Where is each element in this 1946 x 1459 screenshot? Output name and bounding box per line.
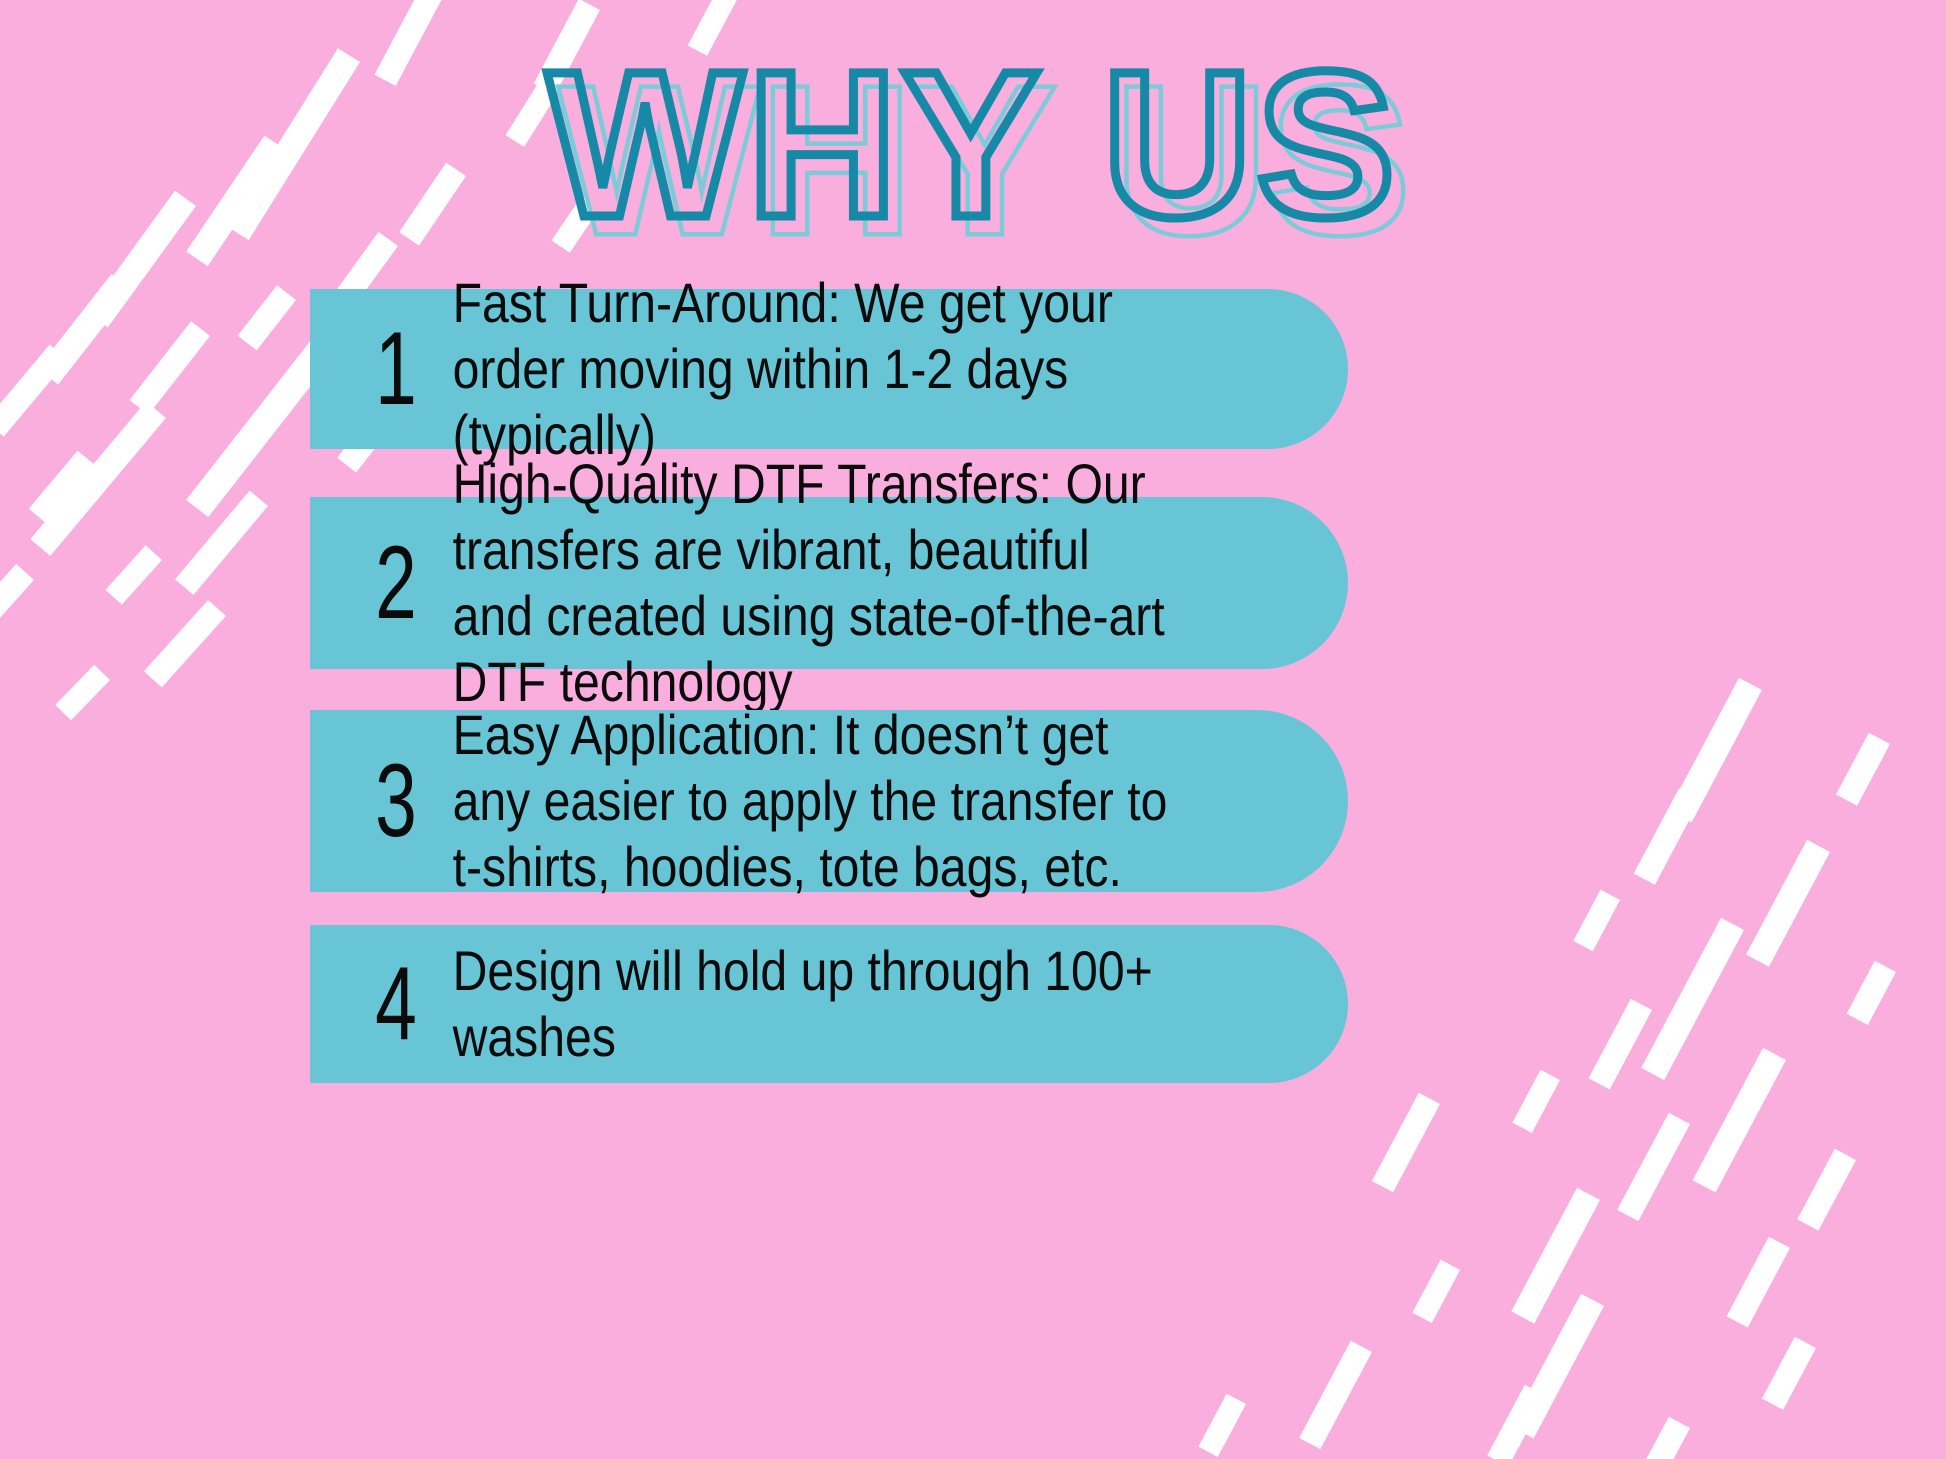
decorative-dash: [106, 545, 162, 604]
poster-canvas: WHY US WHY US WHY US 1 Fast Turn-Around:…: [0, 0, 1946, 1459]
benefit-number: 3: [361, 751, 430, 851]
decorative-dash: [1727, 1237, 1790, 1328]
decorative-dash: [1746, 840, 1830, 967]
benefit-number: 4: [361, 954, 430, 1054]
decorative-dash: [0, 345, 68, 437]
decorative-dash: [1693, 1048, 1786, 1193]
decorative-dash: [1198, 1394, 1246, 1457]
decorative-dash: [1762, 1337, 1816, 1410]
benefit-text: Design will hold up through 100+ washes: [444, 938, 1221, 1070]
decorative-dash: [1512, 1070, 1560, 1133]
page-title-outline: WHY US: [0, 36, 1946, 254]
benefit-card[interactable]: 2 High-Quality DTF Transfers: Our transf…: [310, 497, 1348, 669]
benefit-number: 1: [361, 319, 430, 419]
decorative-dash: [238, 285, 296, 350]
benefit-card[interactable]: 3 Easy Application: It doesn’t get any e…: [310, 710, 1348, 892]
decorative-dash: [1573, 890, 1620, 952]
benefit-text: Easy Application: It doesn’t get any eas…: [444, 702, 1221, 900]
decorative-dash: [1372, 1093, 1440, 1193]
decorative-dash: [1487, 1385, 1546, 1459]
decorative-dash: [1412, 1260, 1460, 1323]
decorative-dash: [1836, 733, 1890, 806]
decorative-dash: [144, 600, 226, 687]
decorative-dash: [30, 401, 166, 556]
benefit-text: High-Quality DTF Transfers: Our transfer…: [444, 451, 1221, 715]
decorative-dash: [1636, 1417, 1690, 1459]
decorative-dash: [0, 564, 34, 662]
decorative-dash: [29, 451, 96, 525]
benefit-card[interactable]: 4 Design will hold up through 100+ washe…: [310, 925, 1348, 1083]
benefit-number: 2: [361, 533, 430, 633]
decorative-dash: [1669, 678, 1762, 823]
decorative-dash: [38, 274, 132, 385]
decorative-dash: [1589, 999, 1652, 1090]
decorative-dash: [175, 491, 268, 595]
decorative-dash: [1797, 1149, 1856, 1231]
decorative-dash: [1299, 1341, 1372, 1449]
decorative-dash: [1634, 789, 1700, 885]
page-title: WHY US WHY US WHY US: [0, 36, 1946, 256]
benefit-card[interactable]: 1 Fast Turn-Around: We get your order mo…: [310, 289, 1348, 449]
decorative-dash: [1847, 961, 1896, 1025]
decorative-dash: [1617, 1113, 1690, 1221]
benefit-text: Fast Turn-Around: We get your order movi…: [444, 270, 1221, 468]
decorative-dash: [130, 321, 210, 415]
decorative-dash: [1511, 1188, 1600, 1324]
decorative-dash: [55, 665, 110, 721]
decorative-dash: [1511, 1294, 1604, 1439]
decorative-dash: [1641, 918, 1744, 1080]
